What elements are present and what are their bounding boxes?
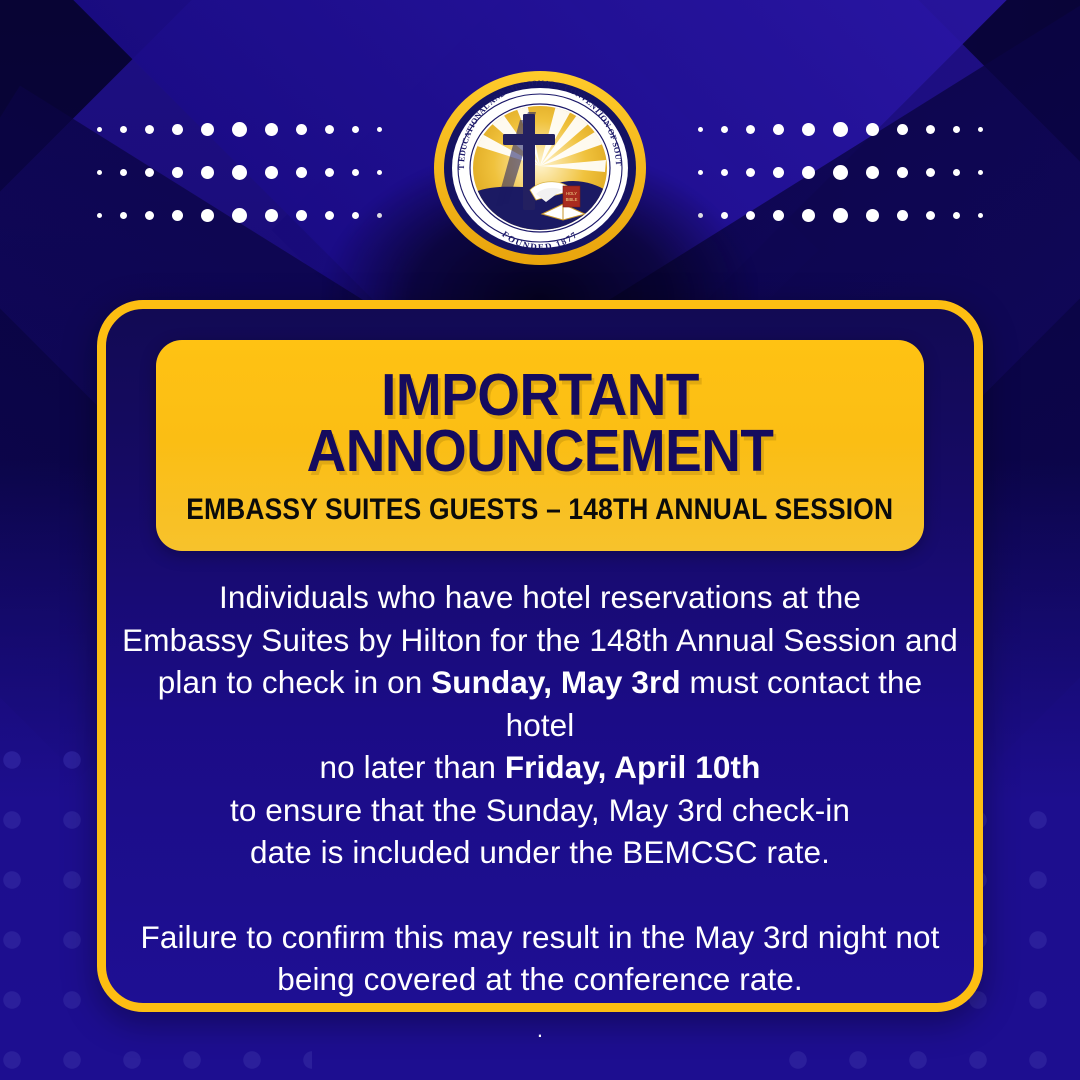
body-line-1: Individuals who have hotel reservations …: [219, 579, 861, 615]
headline-subtitle: EMBASSY SUITES GUESTS – 148TH ANNUAL SES…: [186, 493, 893, 527]
body-paragraph-2: Failure to confirm this may result in th…: [120, 916, 960, 1001]
decorative-dot: [746, 125, 755, 134]
decorative-dot: [201, 209, 214, 222]
decorative-dot: [265, 209, 278, 222]
decorative-dot: [802, 209, 815, 222]
decorative-dot: [953, 212, 960, 219]
decorative-dot: [978, 127, 983, 132]
dot-row: [689, 122, 992, 137]
decorative-dot: [833, 208, 848, 223]
decorative-dot: [773, 124, 784, 135]
decorative-dot: [953, 126, 960, 133]
bold-date-deadline: Friday, April 10th: [505, 749, 761, 785]
decorative-dot: [926, 125, 935, 134]
decorative-dot: [120, 169, 127, 176]
decorative-dot: [926, 168, 935, 177]
decorative-dot: [866, 123, 879, 136]
decorative-dot: [120, 212, 127, 219]
decorative-dot: [145, 125, 154, 134]
paragraph-spacer: [120, 874, 960, 916]
decorative-dot: [833, 165, 848, 180]
decorative-dot: [232, 208, 247, 223]
decorative-dot: [352, 126, 359, 133]
decorative-dot: [172, 124, 183, 135]
decorative-dot: [325, 125, 334, 134]
body-paragraph-1: Individuals who have hotel reservations …: [120, 576, 960, 874]
decorative-dot: [721, 126, 728, 133]
decorative-dot: [296, 167, 307, 178]
announcement-poster: HOLY BIBLE THE BAPTIST EDUCATIONAL AND M…: [0, 0, 1080, 1080]
decorative-dot: [232, 165, 247, 180]
page-title: IMPORTANT ANNOUNCEMENT: [307, 364, 774, 479]
decorative-dot: [773, 210, 784, 221]
body-line-7: Failure to confirm this may result in th…: [141, 919, 940, 955]
bold-date-checkin: Sunday, May 3rd: [431, 664, 681, 700]
decorative-dot: [377, 127, 382, 132]
decorative-dot: [953, 169, 960, 176]
body-line-6: date is included under the BEMCSC rate.: [250, 834, 830, 870]
decorative-dot: [926, 211, 935, 220]
decorative-dot: [97, 213, 102, 218]
decorative-dot: [897, 124, 908, 135]
decorative-dot: [201, 166, 214, 179]
decorative-dot: [265, 166, 278, 179]
decorative-dot: [172, 167, 183, 178]
decorative-dot: [773, 167, 784, 178]
decorative-dot: [866, 209, 879, 222]
announcement-body: Individuals who have hotel reservations …: [120, 576, 960, 1035]
decorative-dot: [97, 127, 102, 132]
decorative-dot: [802, 123, 815, 136]
body-line-2: Embassy Suites by Hilton for the 148th A…: [122, 622, 958, 658]
body-line-4a: no later than: [320, 749, 505, 785]
decorative-dot: [698, 127, 703, 132]
decorative-dot: [296, 124, 307, 135]
decorative-dot: [978, 213, 983, 218]
decorative-dot: [866, 166, 879, 179]
headline-banner: IMPORTANT ANNOUNCEMENT EMBASSY SUITES GU…: [156, 340, 924, 551]
svg-text:HOLY: HOLY: [566, 191, 577, 196]
decorative-dot: [201, 123, 214, 136]
body-line-5: to ensure that the Sunday, May 3rd check…: [230, 792, 850, 828]
decorative-dot: [145, 168, 154, 177]
decorative-dot: [97, 170, 102, 175]
decorative-dot: [172, 210, 183, 221]
decorative-dot: [802, 166, 815, 179]
body-line-8: being covered at the conference rate.: [277, 961, 803, 997]
decorative-dot: [120, 126, 127, 133]
decorative-dot: [897, 210, 908, 221]
svg-text:BIBLE: BIBLE: [566, 197, 578, 202]
decorative-dot: [978, 170, 983, 175]
decorative-dot: [145, 211, 154, 220]
decorative-dot: [296, 210, 307, 221]
organization-seal-logo: HOLY BIBLE THE BAPTIST EDUCATIONAL AND M…: [430, 68, 650, 268]
decorative-dot: [265, 123, 278, 136]
decorative-dot: [897, 167, 908, 178]
headline-line-2: ANNOUNCEMENT: [307, 424, 774, 479]
trailing-period: .: [120, 1025, 960, 1035]
decorative-dot: [232, 122, 247, 137]
body-line-3a: plan to check in on: [158, 664, 431, 700]
dot-row: [88, 122, 391, 137]
decorative-dot: [833, 122, 848, 137]
